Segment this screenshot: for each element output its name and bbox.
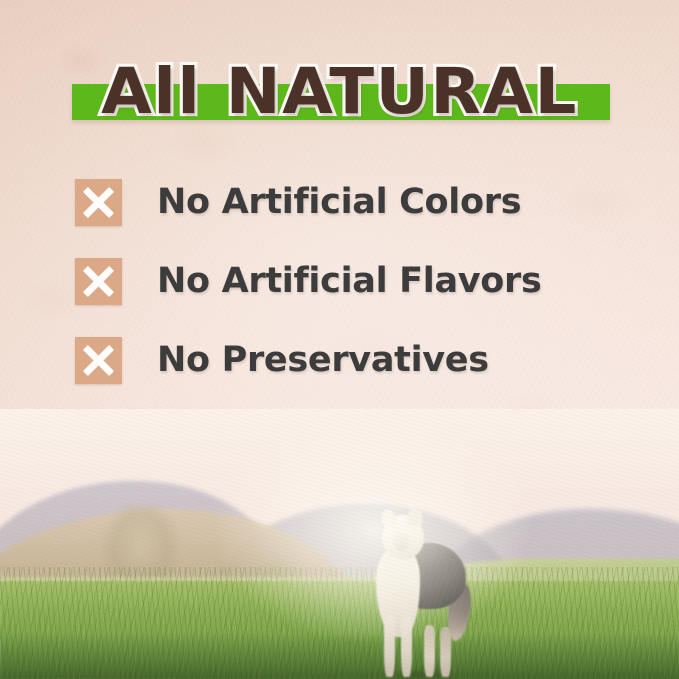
claim-row: No Preservatives (0, 330, 679, 390)
claim-label: No Artificial Flavors (157, 261, 542, 301)
claim-label: No Preservatives (157, 340, 489, 380)
dog-in-field-photo (0, 409, 679, 679)
dog-front-leg (384, 615, 395, 677)
grass-shadow (0, 633, 679, 679)
dog-ear (405, 506, 425, 527)
dog-hind-leg (440, 627, 451, 677)
claim-row: No Artificial Flavors (0, 251, 679, 311)
dog-front-leg (401, 617, 412, 677)
headline-banner: All NATURAL (0, 46, 679, 138)
dog-chest (376, 547, 420, 637)
dog-hind-leg (424, 625, 435, 677)
x-mark-icon (75, 337, 122, 384)
product-feature-graphic: All NATURAL No Artificial Colors No Arti… (0, 0, 679, 679)
dog-standing (362, 507, 472, 679)
claim-row: No Artificial Colors (0, 172, 679, 232)
x-mark-icon (75, 258, 122, 305)
claim-label: No Artificial Colors (157, 182, 521, 222)
x-mark-icon (75, 179, 122, 226)
headline-text: All NATURAL (0, 46, 679, 138)
